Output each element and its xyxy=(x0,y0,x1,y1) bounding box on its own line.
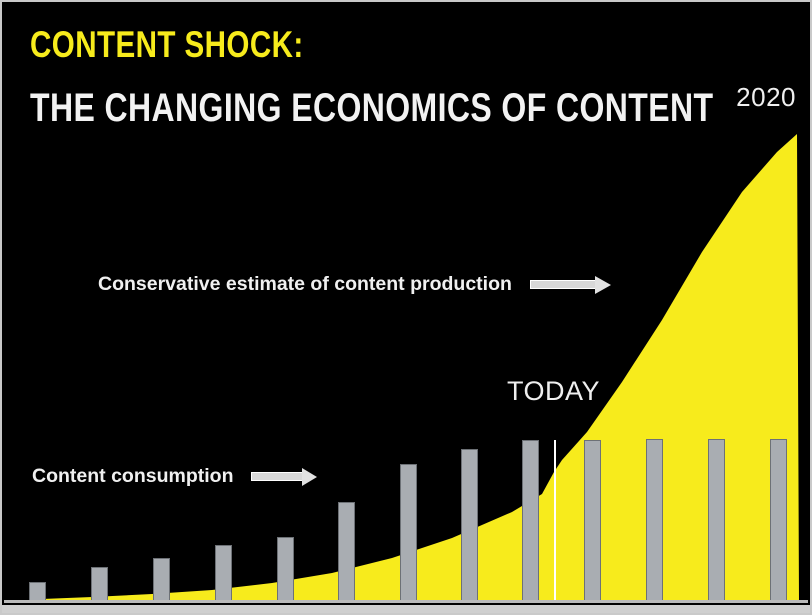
today-marker-line xyxy=(554,440,556,602)
slide-bottom-edge xyxy=(2,605,810,613)
annotation-consumption-text: Content consumption xyxy=(32,465,233,488)
page-title-sub: THE CHANGING ECONOMICS OF CONTENT xyxy=(30,86,713,131)
bar-3 xyxy=(153,558,170,602)
arrow-right-icon xyxy=(530,280,596,289)
arrow-head xyxy=(595,276,611,294)
bar-7 xyxy=(400,464,417,602)
bar-12 xyxy=(708,439,725,602)
arrow-right-icon xyxy=(251,472,303,481)
bar-13 xyxy=(770,439,787,602)
slide-canvas: CONTENT SHOCK: THE CHANGING ECONOMICS OF… xyxy=(0,0,812,615)
arrow-shaft xyxy=(251,472,303,481)
arrow-head xyxy=(302,468,317,486)
annotation-consumption: Content consumption xyxy=(32,465,303,488)
bar-5 xyxy=(277,537,294,602)
bar-11 xyxy=(646,439,663,602)
bar-4 xyxy=(215,545,232,602)
annotation-production: Conservative estimate of content product… xyxy=(98,273,596,296)
bar-8 xyxy=(461,449,478,602)
bar-1 xyxy=(29,582,46,602)
annotation-production-text: Conservative estimate of content product… xyxy=(98,273,512,296)
chart-baseline xyxy=(4,600,808,603)
bar-9 xyxy=(522,440,539,602)
today-label: TODAY xyxy=(507,376,600,407)
year-label-2020: 2020 xyxy=(736,82,796,113)
bar-2 xyxy=(91,567,108,602)
page-title-main: CONTENT SHOCK: xyxy=(30,24,304,66)
arrow-shaft xyxy=(530,280,596,289)
bar-6 xyxy=(338,502,355,602)
bar-10 xyxy=(584,440,601,602)
